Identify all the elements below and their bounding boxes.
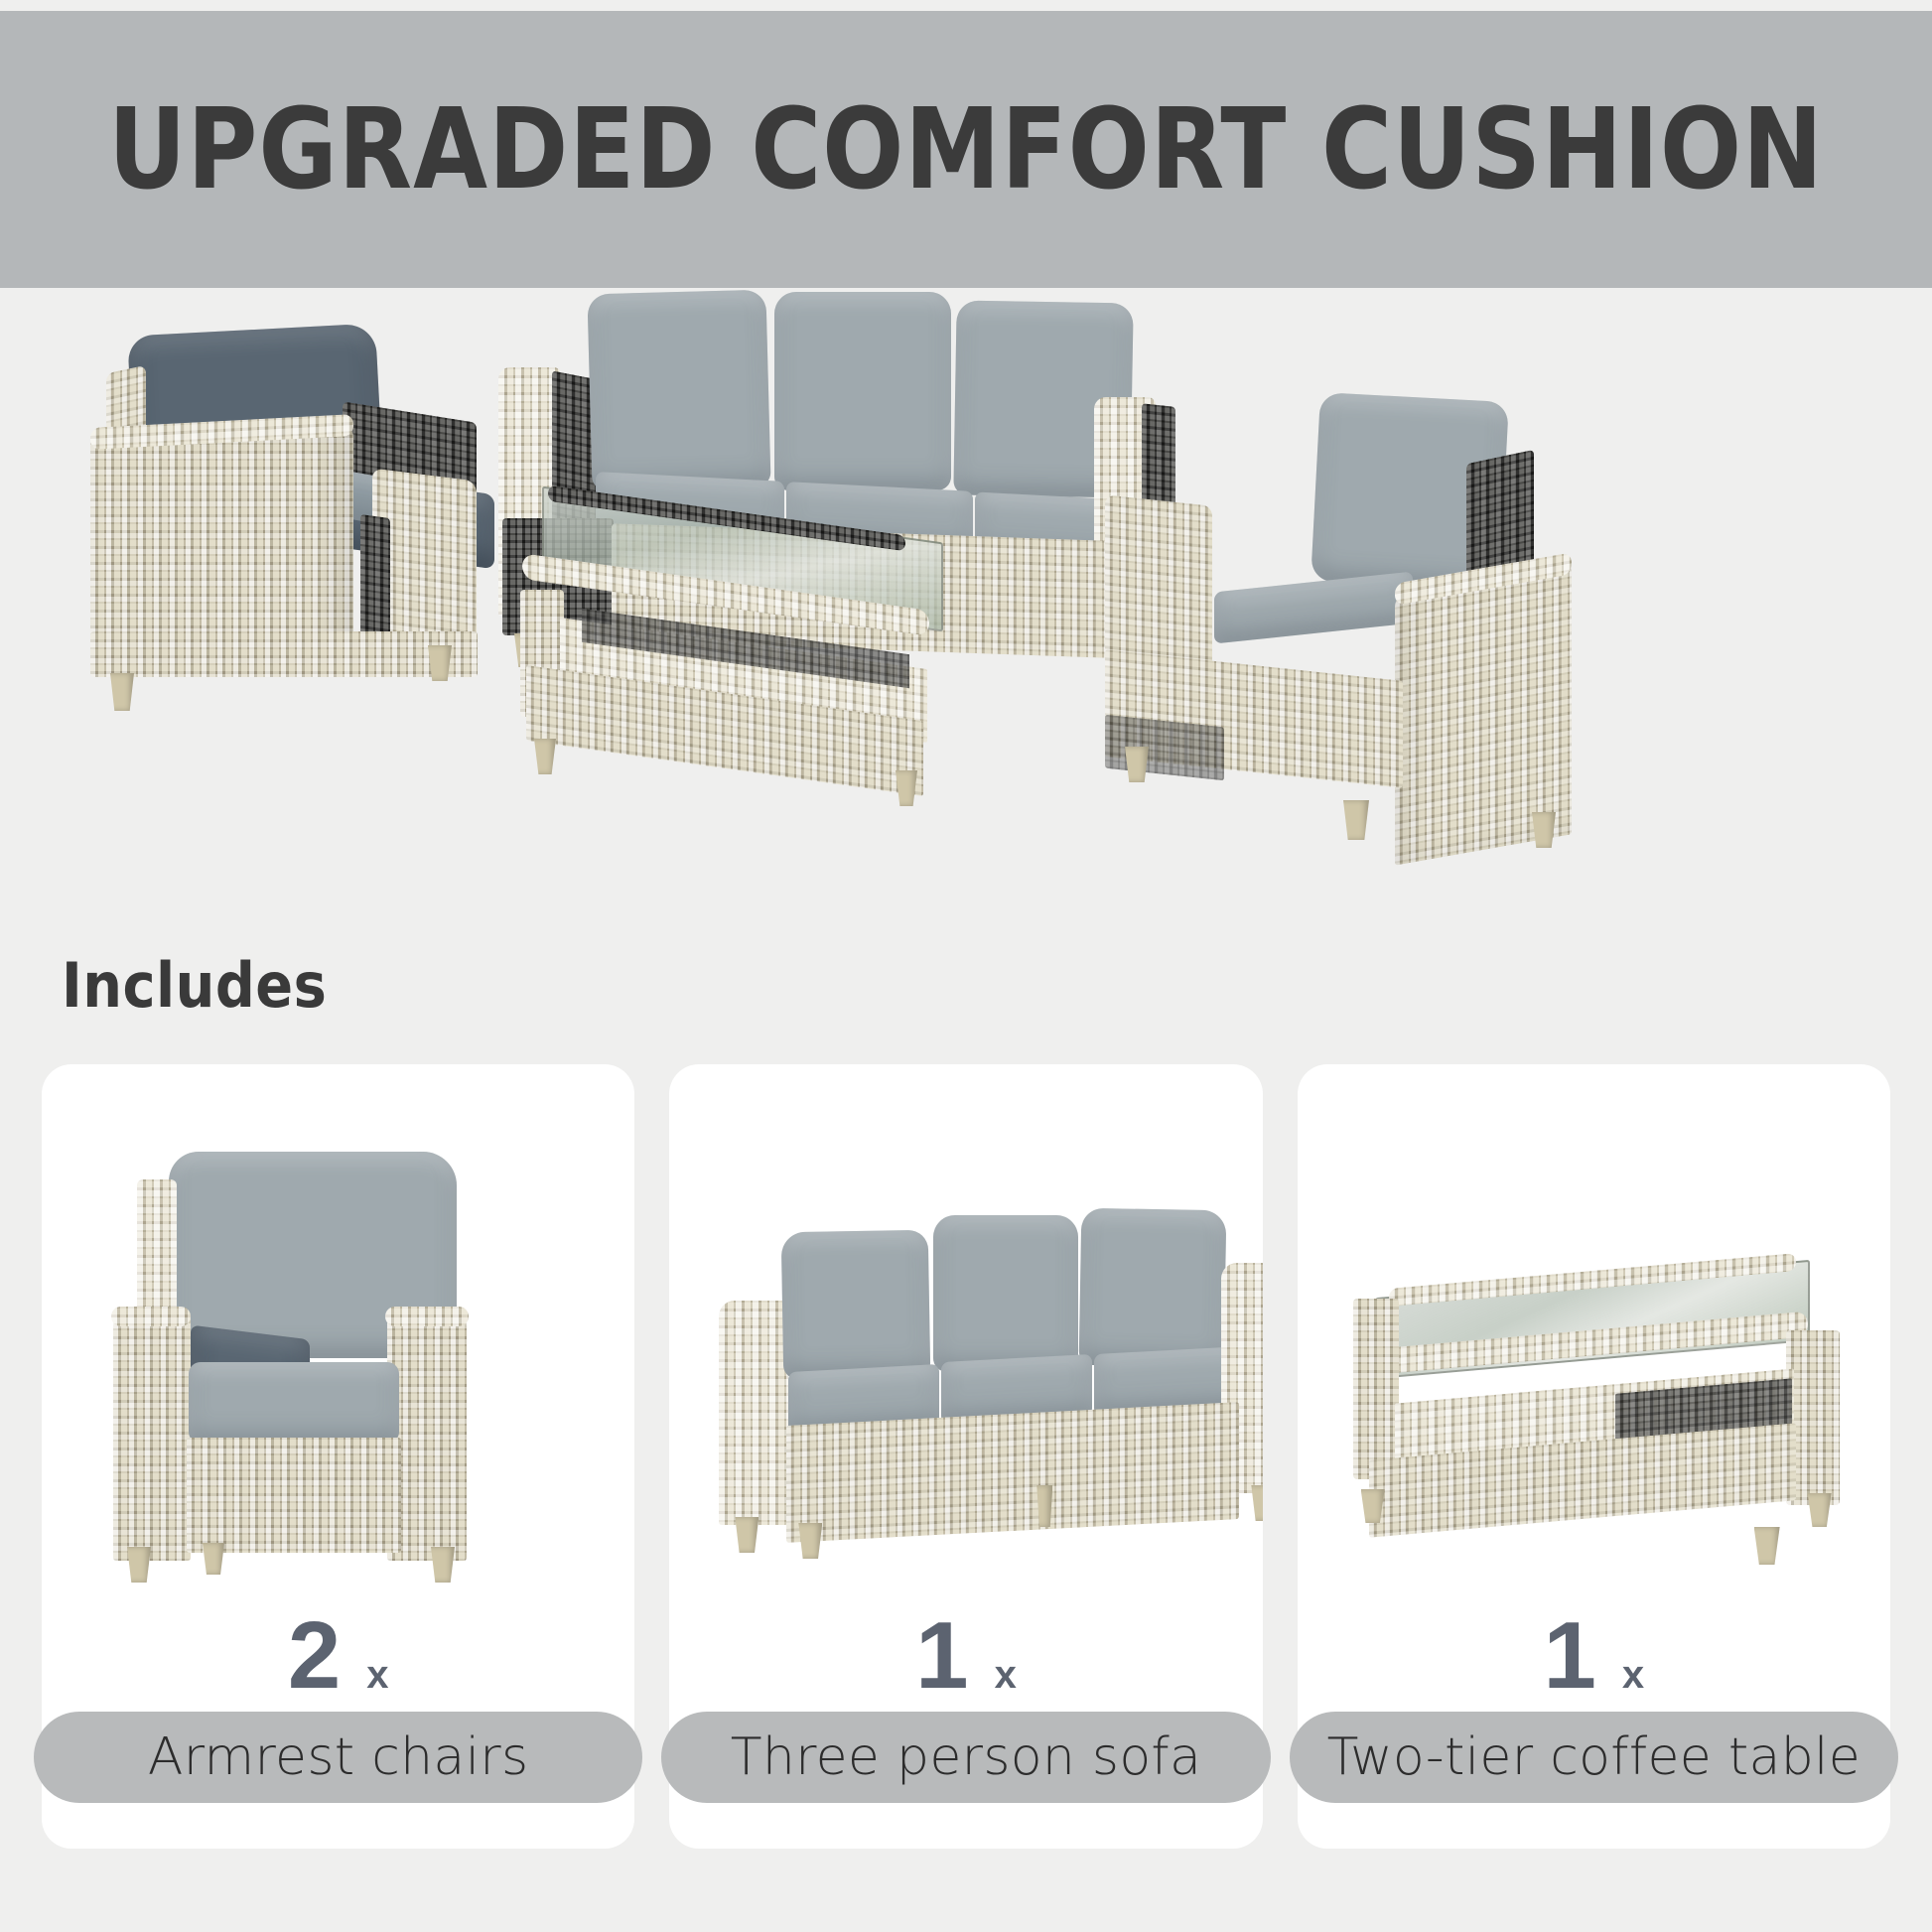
hero-coffee-table (512, 504, 969, 802)
page-title: UPGRADED COMFORT CUSHION (108, 94, 1824, 206)
card2-back-cushion-1 (781, 1230, 931, 1380)
card1-label-pill[interactable]: Armrest chairs (34, 1712, 642, 1803)
card1-multiplier: x (366, 1653, 388, 1697)
hero-armchair-left (74, 308, 472, 715)
coffee-table-leg-left (534, 739, 556, 774)
card1-quantity-number: 2 (288, 1602, 341, 1709)
includes-heading: Includes (62, 955, 327, 1017)
card3-label-pill[interactable]: Two-tier coffee table (1290, 1712, 1898, 1803)
card3-leg-front (1754, 1527, 1780, 1565)
card1-quantity: 2x (42, 1608, 634, 1704)
card3-left-post (1353, 1299, 1399, 1479)
sofa-back-cushion-1 (587, 290, 770, 491)
coffee-table-leg-right (896, 770, 917, 806)
card2-label-pill[interactable]: Three person sofa (661, 1712, 1270, 1803)
chair2-seat-cushion (1214, 571, 1413, 643)
card3-label: Two-tier coffee table (1327, 1727, 1862, 1787)
card2-left-arm (719, 1301, 788, 1525)
card1-seat-cushion (189, 1362, 399, 1444)
card1-leg-left (127, 1547, 151, 1583)
card1-label: Armrest chairs (148, 1727, 528, 1787)
chair-leg-front-left (110, 673, 134, 711)
armchair-illustration (42, 1064, 634, 1600)
card1-left-arm (113, 1312, 191, 1561)
chair2-leg-back-right (1532, 812, 1556, 848)
hero-product-scene (0, 288, 1932, 963)
card2-base (786, 1402, 1239, 1543)
card3-multiplier: x (1622, 1653, 1644, 1697)
coffee-table-illustration (1298, 1064, 1890, 1600)
card2-leg-center (1036, 1485, 1052, 1527)
card2-leg-front (798, 1523, 822, 1559)
chair2-base-shadow (1105, 715, 1224, 781)
card2-leg-right (1251, 1485, 1262, 1521)
sofa-back-cushion-2 (774, 292, 951, 490)
header-banner: UPGRADED COMFORT CUSHION (0, 11, 1932, 288)
card1-leg-right (431, 1547, 455, 1583)
card1-left-arm-top (111, 1307, 191, 1326)
card2-leg-left (735, 1517, 759, 1553)
card2-back-cushion-2 (933, 1215, 1078, 1372)
card3-leg-right (1808, 1493, 1832, 1527)
card3-quantity-number: 1 (1544, 1602, 1596, 1709)
include-card-two-tier-coffee-table[interactable]: 1x Two-tier coffee table (1298, 1064, 1890, 1849)
card2-back-cushion-3 (1079, 1208, 1227, 1368)
chair2-leg-right (1343, 800, 1369, 840)
card3-quantity: 1x (1298, 1608, 1890, 1704)
card2-multiplier: x (995, 1653, 1017, 1697)
card2-label: Three person sofa (731, 1727, 1201, 1787)
card1-leg-front (203, 1543, 224, 1575)
card2-quantity-number: 1 (915, 1602, 968, 1709)
include-card-armrest-chairs[interactable]: 2x Armrest chairs (42, 1064, 634, 1849)
sofa-illustration (669, 1064, 1262, 1600)
hero-armchair-right (1097, 397, 1574, 854)
include-card-three-person-sofa[interactable]: 1x Three person sofa (669, 1064, 1262, 1849)
chair-base (90, 631, 478, 677)
chair2-leg-left (1125, 747, 1149, 782)
card1-base (187, 1438, 401, 1553)
includes-card-list: 2x Armrest chairs (42, 1064, 1890, 1849)
card1-right-arm-top (385, 1307, 469, 1326)
card2-quantity: 1x (669, 1608, 1262, 1704)
